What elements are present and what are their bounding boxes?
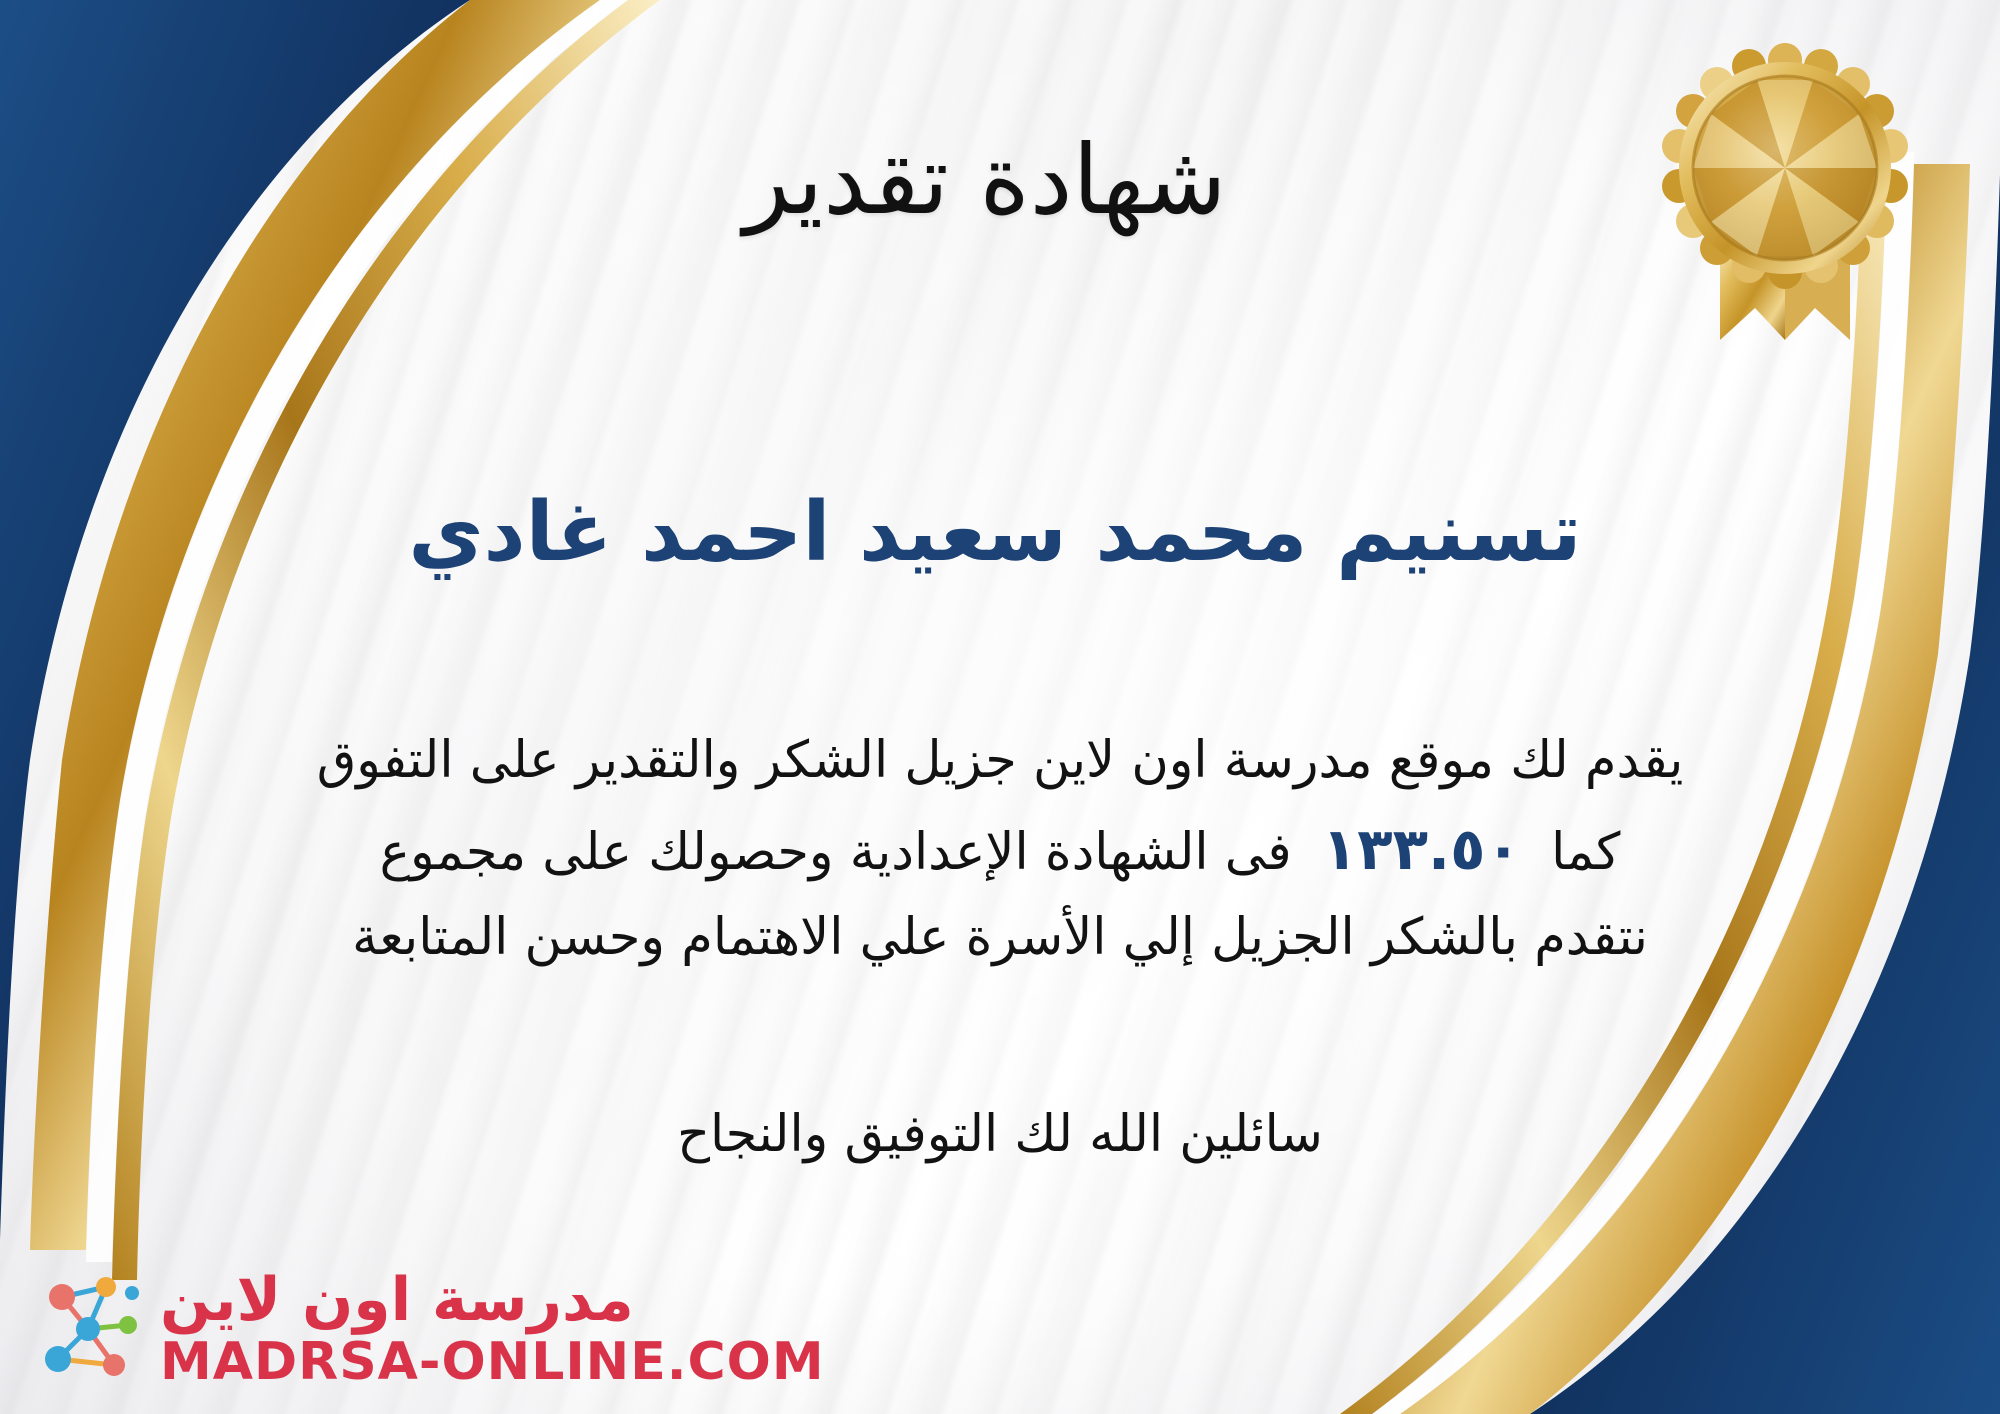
network-nodes-icon <box>28 1273 146 1385</box>
certificate-body: يقدم لك موقع مدرسة اون لاين جزيل الشكر و… <box>60 720 1940 979</box>
brand-domain: MADRSA-ONLINE.COM <box>160 1336 825 1388</box>
brand-logo[interactable]: مدرسة اون لاين MADRSA-ONLINE.COM <box>28 1270 825 1388</box>
body-line-2-suffix: كما <box>1551 823 1620 882</box>
certificate-canvas: شهادة تقدير تسنيم محمد سعيد احمد غادي يق… <box>0 0 2000 1414</box>
brand-logo-text: مدرسة اون لاين MADRSA-ONLINE.COM <box>160 1270 825 1388</box>
body-line-1: يقدم لك موقع مدرسة اون لاين جزيل الشكر و… <box>60 720 1940 803</box>
award-rosette-icon <box>1650 40 1920 360</box>
body-line-2: كما ١٣٣.٥٠ فى الشهادة الإعدادية وحصولك ع… <box>60 803 1940 897</box>
body-line-2-prefix: فى الشهادة الإعدادية وحصولك على مجموع <box>380 823 1292 882</box>
grade-value: ١٣٣.٥٠ <box>1308 815 1535 883</box>
body-line-3: نتقدم بالشكر الجزيل إلي الأسرة علي الاهت… <box>60 897 1940 980</box>
recipient-name: تسنيم محمد سعيد احمد غادي <box>0 486 2000 580</box>
closing-line: سائلين الله لك التوفيق والنجاح <box>0 1105 2000 1164</box>
brand-name-arabic: مدرسة اون لاين <box>160 1270 634 1330</box>
